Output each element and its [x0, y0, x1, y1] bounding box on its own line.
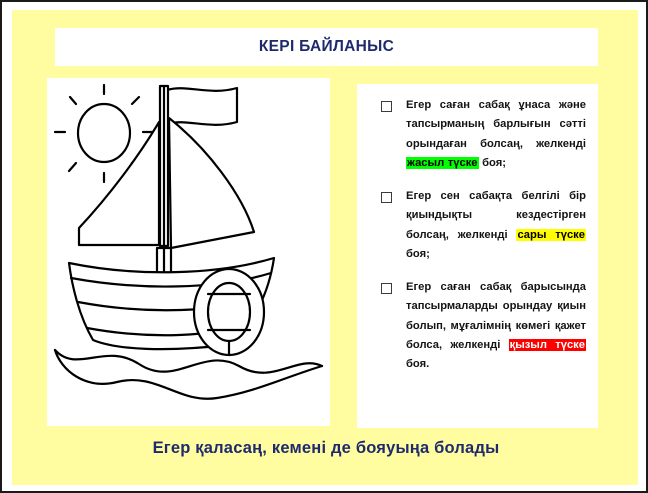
checkbox-empty-icon[interactable]	[381, 101, 392, 112]
checkbox-empty-icon[interactable]	[381, 192, 392, 203]
instructions-panel: Егер саған сабақ ұнаса және тапсырманың …	[357, 84, 598, 428]
mast	[160, 86, 168, 246]
main-sail	[169, 118, 254, 248]
water-waves	[55, 350, 322, 399]
instruction-post-text: боя;	[406, 248, 430, 260]
highlight-red: қызыл түске	[509, 339, 586, 351]
instruction-text: Егер сен сабақта белгілі бір қиындықты к…	[406, 187, 588, 264]
highlight-yellow: сары түске	[516, 229, 586, 241]
list-item: Егер саған сабақ ұнаса және тапсырманың …	[367, 96, 588, 173]
porthole	[194, 269, 264, 355]
instruction-post-text: боя;	[479, 157, 506, 169]
instruction-pre-text: Егер саған сабақ ұнаса және тапсырманың …	[406, 99, 586, 150]
sailboat-illustration	[47, 78, 330, 426]
footer-caption: Егер қаласаң, кемені де бояуыңа болады	[2, 439, 648, 458]
checkbox-empty-icon[interactable]	[381, 283, 392, 294]
list-item: Егер саған сабақ барысында тапсырмаларды…	[367, 278, 588, 374]
slide-root: КЕРІ БАЙЛАНЫС	[0, 0, 648, 493]
highlight-green: жасыл түске	[406, 157, 479, 169]
page-title: КЕРІ БАЙЛАНЫС	[259, 38, 394, 56]
title-box: КЕРІ БАЙЛАНЫС	[55, 28, 598, 66]
illustration-panel	[47, 78, 330, 426]
list-item: Егер сен сабақта белгілі бір қиындықты к…	[367, 187, 588, 264]
flag-icon	[167, 88, 237, 125]
instruction-text: Егер саған сабақ ұнаса және тапсырманың …	[406, 96, 588, 173]
instruction-text: Егер саған сабақ барысында тапсырмаларды…	[406, 278, 588, 374]
boom	[157, 248, 171, 274]
instruction-post-text: боя.	[406, 358, 429, 370]
